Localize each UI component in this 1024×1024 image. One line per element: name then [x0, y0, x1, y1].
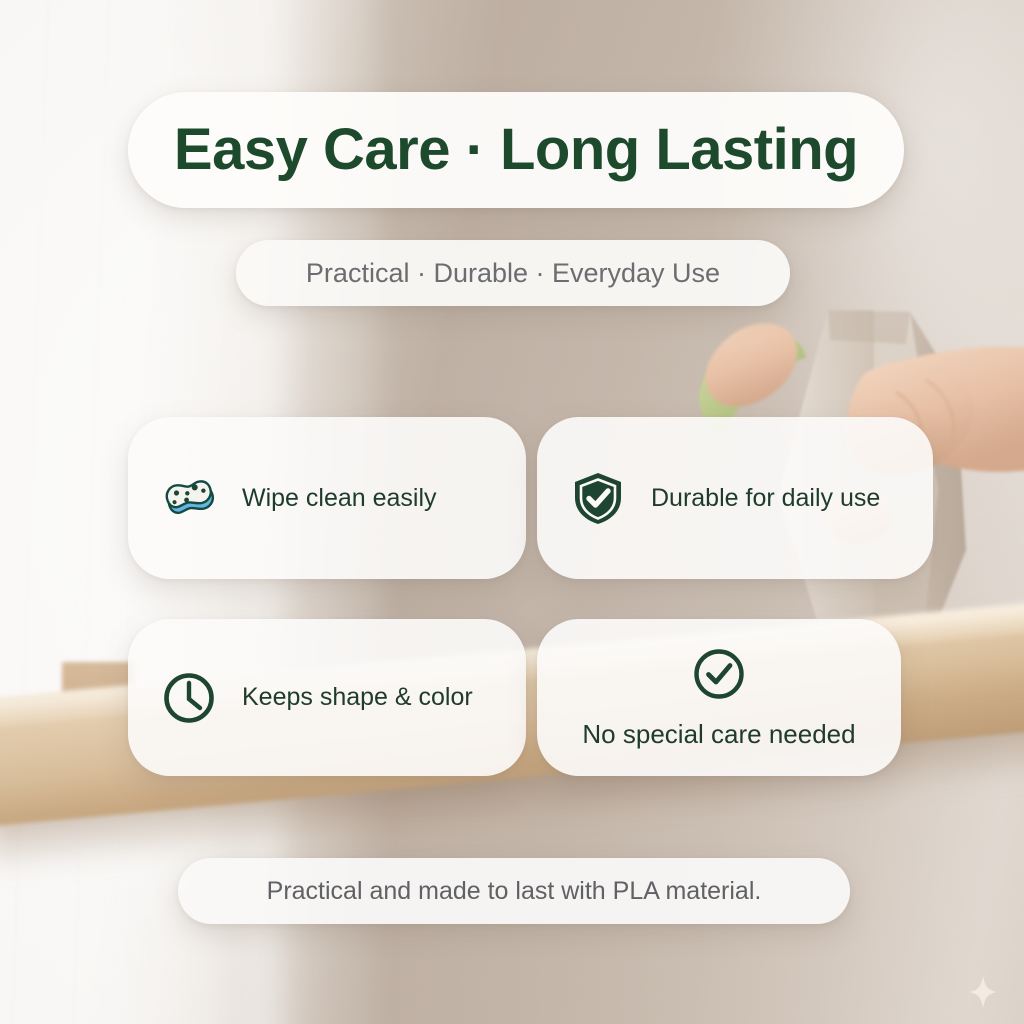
- feature-label: No special care needed: [582, 719, 855, 750]
- feature-label: Durable for daily use: [651, 484, 880, 513]
- footer-pill: Practical and made to last with PLA mate…: [178, 858, 850, 924]
- sponge-icon: [160, 469, 218, 527]
- feature-card-keeps-shape[interactable]: Keeps shape & color: [128, 619, 526, 776]
- feature-label: Keeps shape & color: [242, 683, 473, 712]
- title-pill: Easy Care · Long Lasting: [128, 92, 904, 208]
- feature-card-wipe-clean[interactable]: Wipe clean easily: [128, 417, 526, 579]
- subtitle-pill: Practical · Durable · Everyday Use: [236, 240, 790, 306]
- footer-text: Practical and made to last with PLA mate…: [267, 877, 762, 906]
- infographic-canvas: Easy Care · Long Lasting Practical · Dur…: [0, 0, 1024, 1024]
- sparkle-icon: [968, 975, 998, 1009]
- circle-check-icon: [690, 645, 748, 703]
- page-subtitle: Practical · Durable · Everyday Use: [306, 258, 720, 289]
- feature-card-no-special-care[interactable]: No special care needed: [537, 619, 901, 776]
- feature-label: Wipe clean easily: [242, 484, 437, 513]
- shield-check-icon: [569, 469, 627, 527]
- page-title: Easy Care · Long Lasting: [174, 121, 858, 179]
- clock-icon: [160, 669, 218, 727]
- feature-card-durable[interactable]: Durable for daily use: [537, 417, 933, 579]
